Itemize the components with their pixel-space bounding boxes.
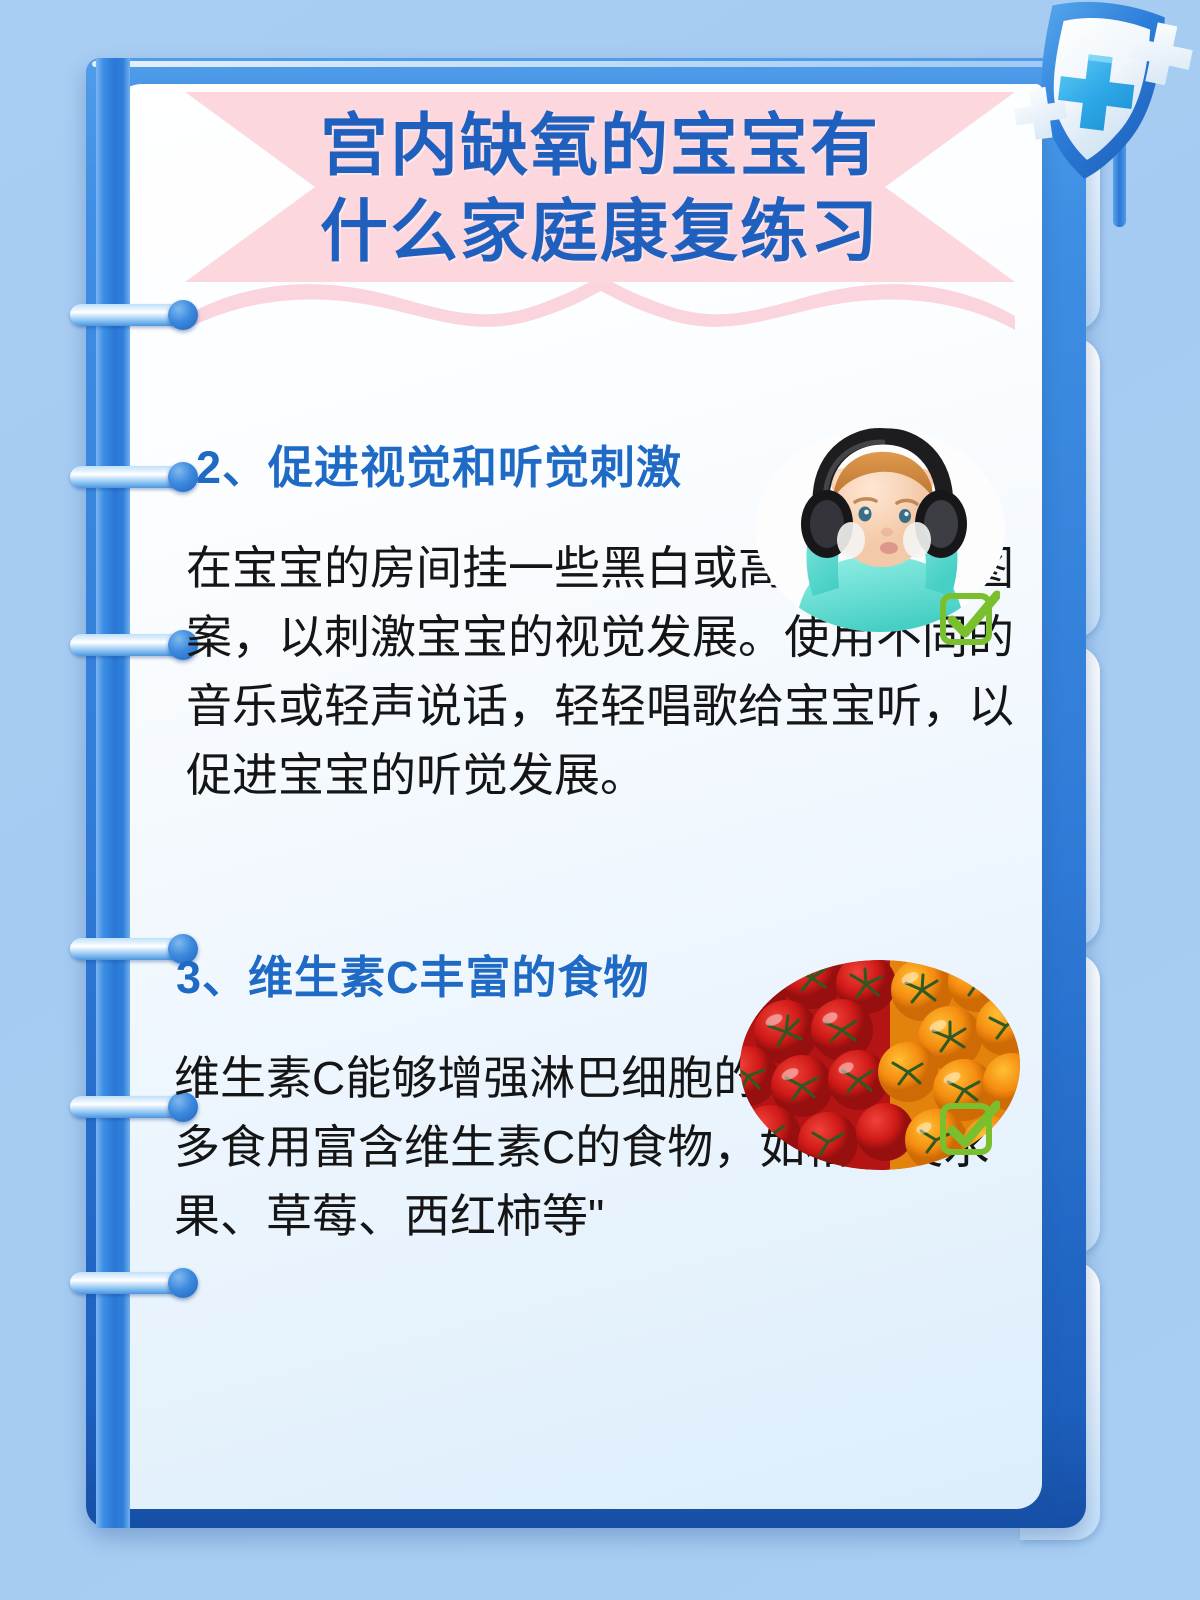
green-check-icon [938, 1098, 1000, 1160]
poster-canvas: 宫内缺氧的宝宝有 什么家庭康复练习 [0, 0, 1200, 1600]
green-check-icon [938, 588, 1000, 650]
section-heading-3: 3、维生素C丰富的食物 [176, 941, 650, 1006]
medical-shield-badge [995, 0, 1200, 229]
content-area: 2、促进视觉和听觉刺激 在宝宝的房间挂一些黑白或高对比度的图案，以刺激宝宝的视觉… [112, 84, 1042, 1509]
section-heading-2: 2、促进视觉和听觉刺激 [196, 431, 682, 496]
